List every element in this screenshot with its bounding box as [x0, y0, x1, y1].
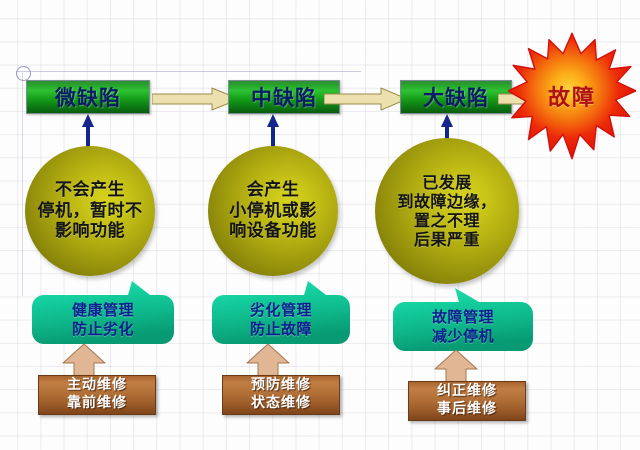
description-ellipse-1[interactable]: 不会产生 停机，暂时不 影响功能	[25, 146, 155, 276]
description-line: 会产生	[229, 180, 317, 201]
description-line: 后果严重	[397, 230, 496, 249]
tan-arrow-1	[62, 344, 106, 376]
stage-label-1: 微缺陷	[55, 82, 121, 112]
diagram-canvas: 微缺陷 中缺陷 大缺陷	[0, 0, 640, 450]
flow-arrow-2	[324, 87, 408, 111]
maintenance-line: 预防维修	[251, 377, 311, 395]
stage-label-3: 大缺陷	[423, 82, 489, 112]
description-text-1: 不会产生 停机，暂时不 影响功能	[38, 180, 143, 242]
guide-handle-icon	[16, 66, 31, 81]
tan-arrow-3	[434, 350, 478, 382]
stage-label-2: 中缺陷	[251, 82, 317, 112]
maintenance-line: 事后维修	[437, 401, 497, 419]
description-text-3: 已发展 到故障边缘， 置之不理 后果严重	[397, 173, 496, 250]
maintenance-line: 主动维修	[67, 377, 127, 395]
guide-line-vertical	[22, 71, 23, 296]
maintenance-line: 纠正维修	[437, 383, 497, 401]
guide-line-horizontal	[16, 71, 361, 72]
description-line: 不会产生	[38, 180, 143, 201]
maintenance-line: 靠前维修	[67, 395, 127, 413]
maintenance-box-2[interactable]: 预防维修 状态维修	[222, 375, 340, 415]
maintenance-box-1[interactable]: 主动维修 靠前维修	[38, 375, 156, 415]
description-ellipse-2[interactable]: 会产生 小停机或影 响设备功能	[208, 146, 338, 276]
description-line: 响设备功能	[229, 221, 317, 242]
description-text-2: 会产生 小停机或影 响设备功能	[229, 180, 317, 242]
maintenance-box-3[interactable]: 纠正维修 事后维修	[408, 381, 526, 421]
stage-box-3[interactable]: 大缺陷	[400, 80, 512, 114]
management-callout-1[interactable]: 健康管理 防止劣化	[32, 281, 174, 344]
stage-box-1[interactable]: 微缺陷	[26, 80, 150, 114]
maintenance-line: 状态维修	[251, 395, 311, 413]
description-ellipse-3[interactable]: 已发展 到故障边缘， 置之不理 后果严重	[375, 138, 519, 284]
tan-arrow-2	[246, 344, 290, 376]
description-line: 已发展	[397, 173, 496, 192]
flow-arrow-1	[152, 87, 240, 111]
description-line: 停机，暂时不	[38, 201, 143, 222]
management-callout-3[interactable]: 故障管理 减少停机	[393, 288, 533, 351]
management-callout-2[interactable]: 劣化管理 防止故障	[212, 281, 350, 344]
description-line: 影响功能	[38, 221, 143, 242]
description-line: 置之不理	[397, 211, 496, 230]
description-line: 小停机或影	[229, 201, 317, 222]
description-line: 到故障边缘，	[397, 192, 496, 211]
failure-explosion[interactable]: 故障	[508, 32, 636, 160]
